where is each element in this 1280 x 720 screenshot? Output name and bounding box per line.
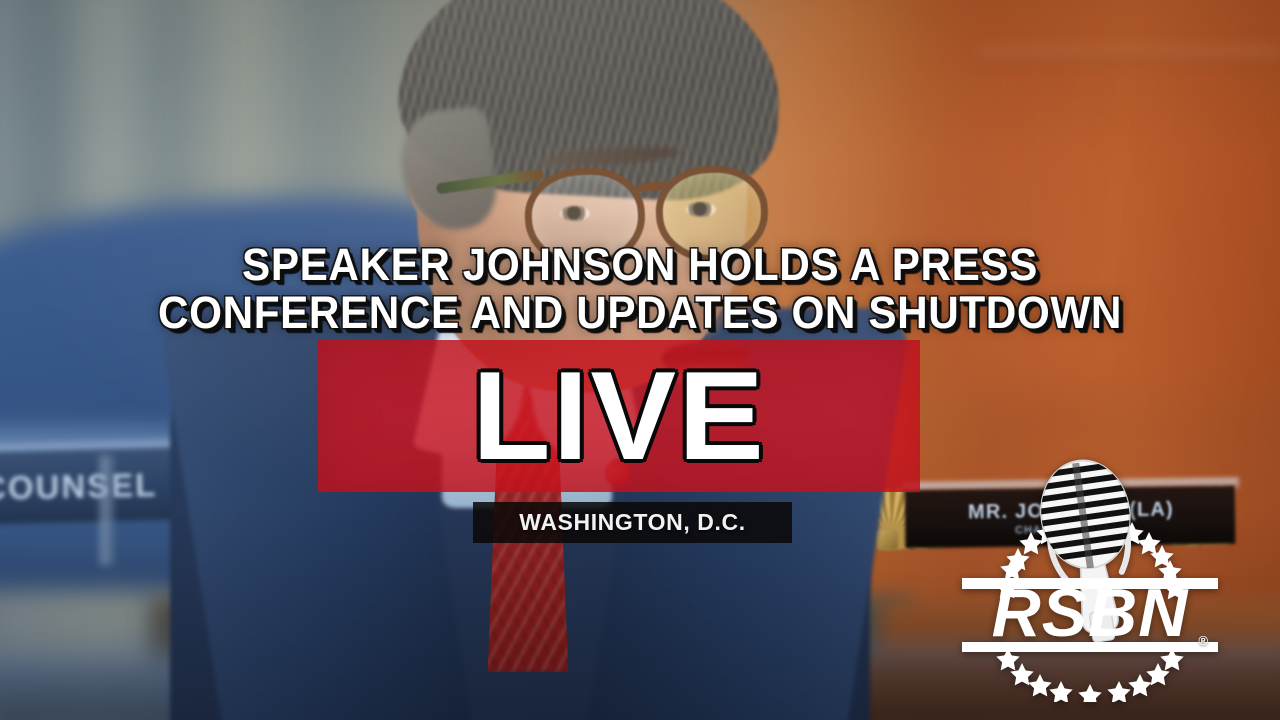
registered-trademark-icon: ® — [1198, 633, 1208, 648]
eye-left — [560, 206, 590, 221]
rsbn-wordmark: RSBN — [992, 575, 1190, 651]
rsbn-logo-svg: RSBN — [960, 452, 1220, 702]
video-thumbnail: COUNSEL MR. JOHNSON (LA) CHAIRMAN — [0, 0, 1280, 720]
nameplate-left-label: COUNSEL — [0, 466, 158, 508]
wood-seam — [980, 48, 1280, 62]
rsbn-logo: RSBN ® — [960, 452, 1220, 702]
location-bar-background — [473, 502, 792, 543]
microphone-stand-left — [100, 455, 114, 565]
live-badge-background — [318, 340, 920, 492]
eye-right — [686, 202, 716, 217]
